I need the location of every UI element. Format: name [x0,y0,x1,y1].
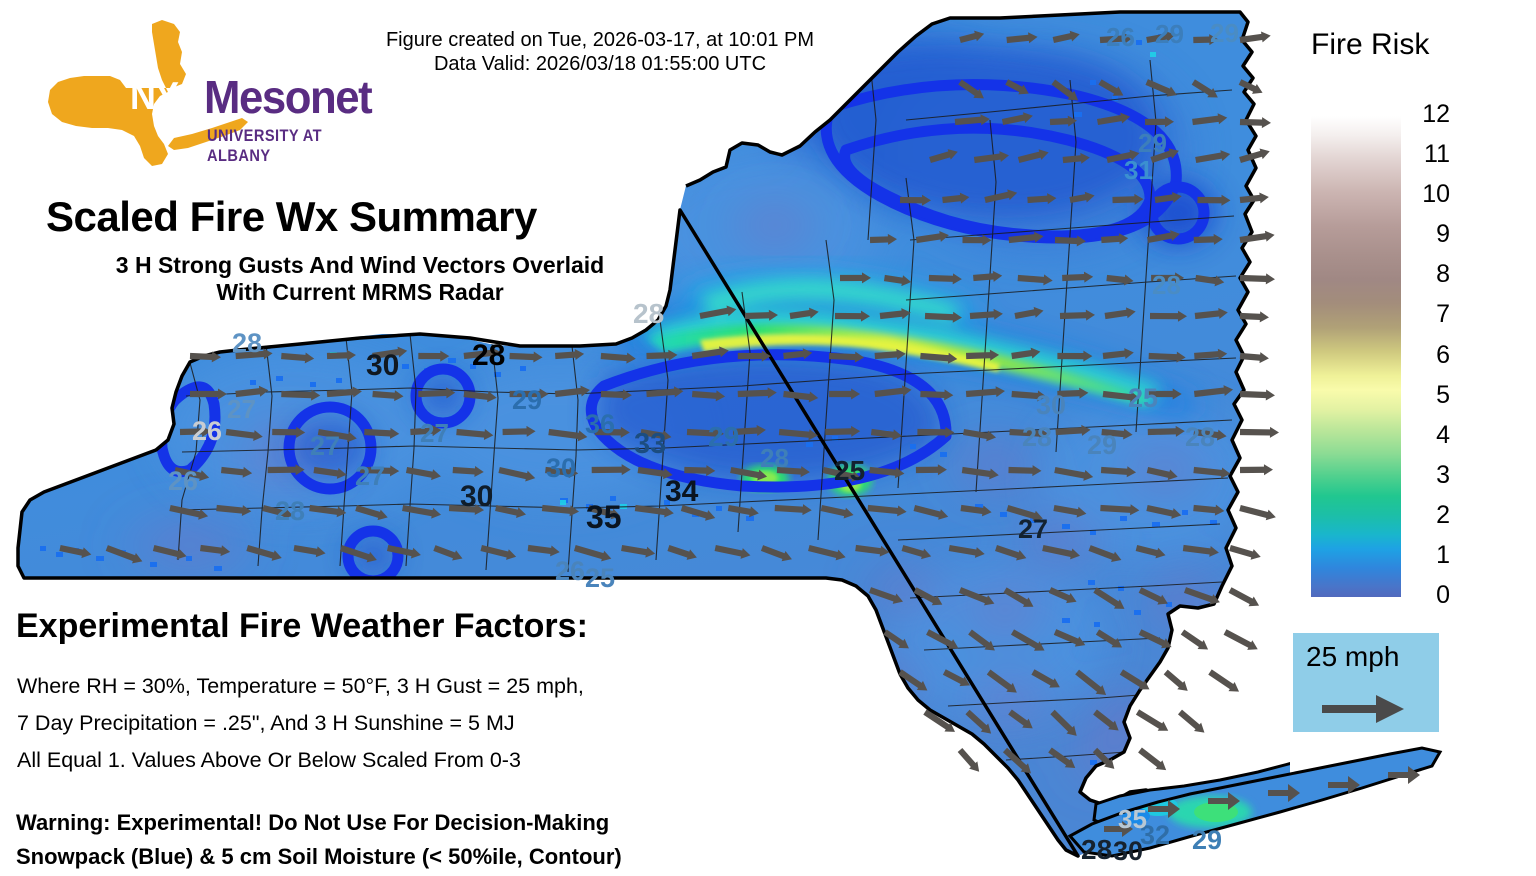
gust-label: 28 [1022,424,1052,451]
colorbar-tick-2: 2 [1410,501,1450,530]
gust-label: 25 [834,457,865,485]
wind-arrow-icon [1176,708,1208,737]
gust-label: 26 [555,558,585,585]
colorbar-tick-9: 9 [1410,220,1450,249]
gust-label: 27 [1018,516,1048,543]
wind-arrow-icon [1179,627,1211,654]
gust-label: 34 [665,477,698,507]
factors-body: Where RH = 30%, Temperature = 50°F, 3 H … [17,668,584,779]
factors-heading: Experimental Fire Weather Factors: [16,607,588,646]
gust-label: 35 [586,501,622,533]
gust-label: 29 [708,423,739,451]
wind-arrow-icon [1207,667,1242,696]
gust-label: 28 [232,330,262,357]
subtitle-line-2: With Current MRMS Radar [40,279,680,306]
gust-label: 27 [355,463,385,490]
wind-arrow-icon [1240,273,1275,285]
wind-arrow-icon [1162,668,1191,695]
colorbar-tick-5: 5 [1410,381,1450,410]
wind-arrow-icon [1222,627,1260,654]
gust-label: 28 [1185,424,1215,451]
created-timestamp: Figure created on Tue, 2026-03-17, at 10… [360,28,840,52]
timestamp-block: Figure created on Tue, 2026-03-17, at 10… [360,28,840,76]
wind-legend-label: 25 mph [1306,641,1399,673]
gust-label: 30 [366,351,399,381]
gust-label: 33 [634,430,666,459]
gust-label: 30 [1036,392,1066,419]
gust-label: 25 [585,565,615,592]
wind-arrow-icon [1239,503,1278,523]
valid-timestamp: Data Valid: 2026/03/18 01:55:00 UTC [360,52,840,76]
wind-arrow-icon [1227,585,1261,610]
colorbar-tick-1: 1 [1410,541,1450,570]
gust-label: 30 [460,482,493,512]
factors-line-1: Where RH = 30%, Temperature = 50°F, 3 H … [17,668,584,705]
gust-label: 30 [1113,838,1143,865]
gust-label: 35 [1118,806,1147,832]
warning-line-2: Snowpack (Blue) & 5 cm Soil Moisture (< … [16,840,622,874]
colorbar-tick-4: 4 [1410,421,1450,450]
gust-label: 29 [1210,20,1239,46]
colorbar-gradient [1311,116,1401,597]
factors-line-3: All Equal 1. Values Above Or Below Scale… [17,742,584,779]
gust-label: 26 [1106,24,1135,50]
gust-label: 26 [192,418,222,445]
page-subtitle: 3 H Strong Gusts And Wind Vectors Overla… [40,252,680,306]
colorbar-tick-7: 7 [1410,300,1450,329]
colorbar-tick-3: 3 [1410,461,1450,490]
gust-label: 29 [1155,21,1184,47]
page-title: Scaled Fire Wx Summary [46,193,537,241]
wind-legend-arrow-icon [1318,692,1408,726]
logo-nys-text: NYS [130,75,201,119]
gust-label: 26 [168,468,198,495]
gust-label: 25 [1128,385,1158,412]
gust-label: 30 [546,455,576,482]
wind-arrow-icon [1240,464,1273,475]
gust-label: 36 [585,411,615,438]
gust-label: 28 [472,341,505,371]
nys-mesonet-logo: NYS Mesonet UNIVERSITY AT ALBANY [22,18,387,168]
wind-arrow-icon [1228,543,1262,562]
wind-arrow-icon [1240,427,1279,439]
warning-line-1: Warning: Experimental! Do Not Use For De… [16,806,622,840]
wind-arrow-icon [1135,707,1171,735]
gust-label: 27 [420,420,449,446]
gust-label: 27 [227,396,256,422]
colorbar-tick-0: 0 [1410,581,1450,610]
gust-label: 28 [1152,272,1181,298]
logo-mesonet-text: Mesonet [204,70,371,124]
gust-label: 29 [1192,827,1222,854]
colorbar-tick-12: 12 [1410,100,1450,129]
logo-university-text: UNIVERSITY AT ALBANY [207,126,362,166]
gust-label: 31 [1124,157,1153,183]
gust-label: 28 [1081,836,1112,864]
gust-label: 29 [1087,432,1117,459]
gust-label: 28 [760,445,789,471]
factors-line-2: 7 Day Precipitation = .25", And 3 H Suns… [17,705,584,742]
colorbar-title: Fire Risk [1311,28,1429,62]
warning-block: Warning: Experimental! Do Not Use For De… [16,806,622,874]
subtitle-line-1: 3 H Strong Gusts And Wind Vectors Overla… [40,252,680,279]
gust-label: 29 [512,387,542,414]
gust-label: 29 [1138,130,1167,156]
colorbar-tick-8: 8 [1410,260,1450,289]
gust-label: 27 [310,433,340,460]
colorbar-tick-10: 10 [1410,180,1450,209]
colorbar-tick-6: 6 [1410,341,1450,370]
colorbar-tick-11: 11 [1410,140,1450,169]
wind-arrow-icon [956,746,983,775]
gust-label: 28 [275,498,305,525]
